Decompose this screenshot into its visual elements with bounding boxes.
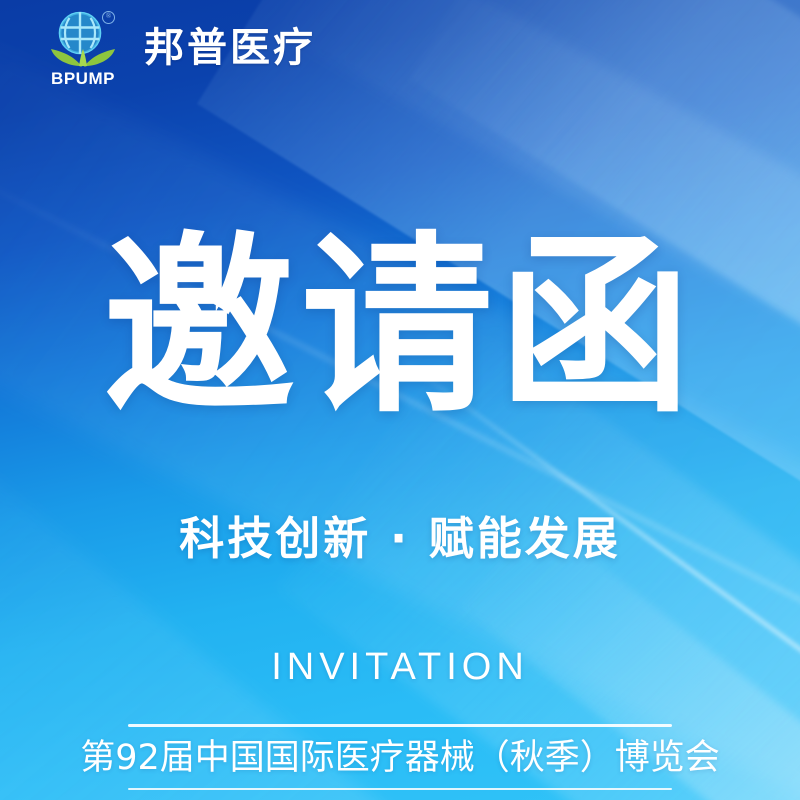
invitation-poster: ® BPUMP 邦普医疗 邀请函 科技创新 · 赋能发展 INVITATION … <box>0 0 800 800</box>
english-title: INVITATION <box>0 645 800 691</box>
poster-content: 邀请函 科技创新 · 赋能发展 INVITATION 第92届中国国际医疗器械（… <box>0 0 800 800</box>
subtitle-slogan: 科技创新 · 赋能发展 <box>0 512 800 566</box>
bpump-wordmark: BPUMP <box>44 70 122 87</box>
divider-bottom <box>128 788 672 790</box>
brand-header: ® BPUMP 邦普医疗 <box>0 0 800 96</box>
main-title: 邀请函 <box>0 232 800 424</box>
bpump-logo[interactable]: ® BPUMP <box>44 10 122 86</box>
divider-top <box>128 724 672 727</box>
event-name: 第92届中国国际医疗器械（秋季）博览会 <box>0 736 800 782</box>
registered-trademark-icon: ® <box>102 11 115 24</box>
company-name: 邦普医疗 <box>144 28 316 68</box>
green-leaves-icon <box>46 34 120 68</box>
